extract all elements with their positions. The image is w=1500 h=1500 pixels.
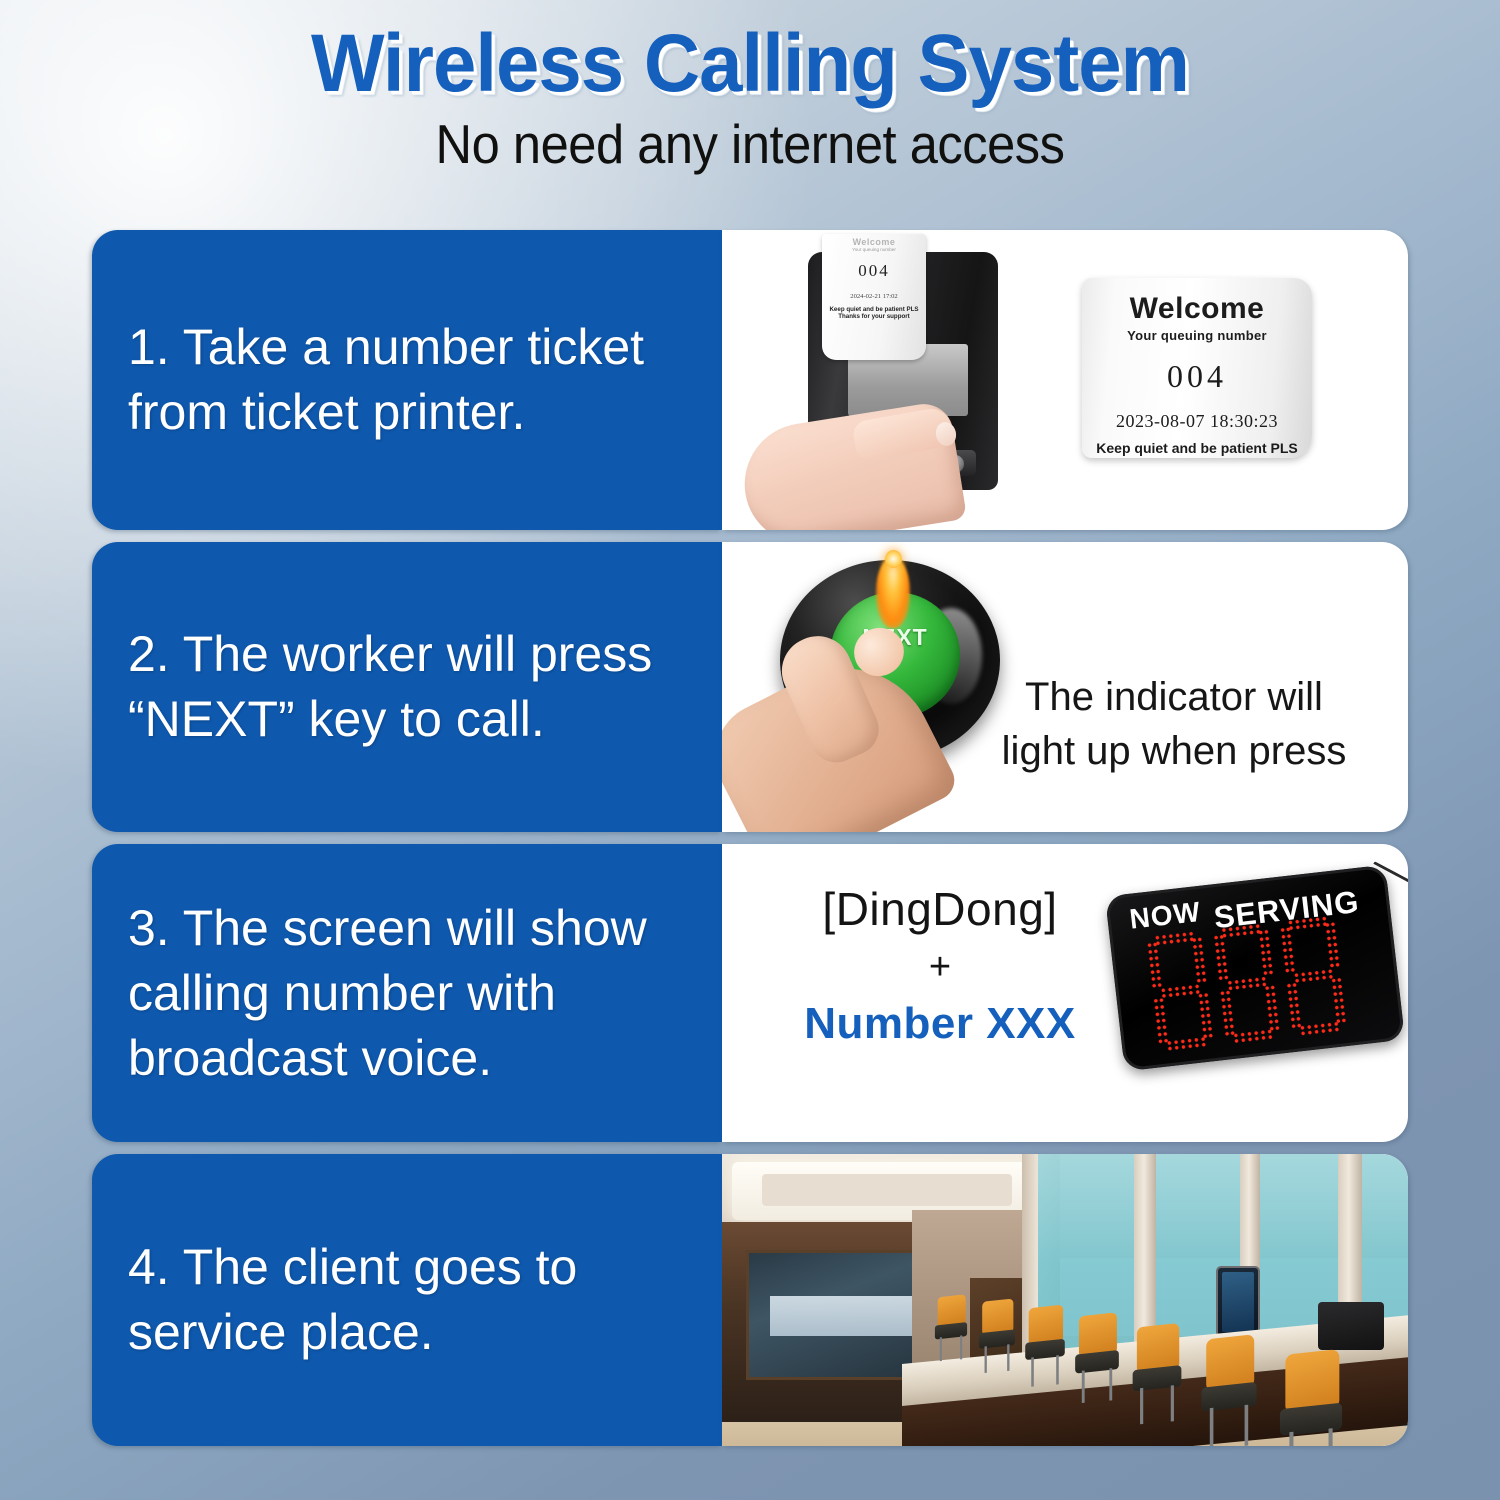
step-3-text: 3. The screen will show calling number w… bbox=[128, 896, 706, 1091]
printer-ticket-queue-label: Your queuing number bbox=[822, 247, 926, 252]
lobby-chair bbox=[979, 1300, 1015, 1372]
step-1-text-panel: 1. Take a number ticket from ticket prin… bbox=[92, 230, 722, 530]
printer-paper-ticket: Welcome Your queuing number 004 2024-02-… bbox=[822, 234, 926, 360]
step-4-text: 4. The client goes to service place. bbox=[128, 1235, 706, 1365]
lobby-chair bbox=[1201, 1337, 1256, 1446]
step-2-media-panel: NEXT The indicator will light up when pr… bbox=[722, 542, 1408, 832]
ticket-note1: Keep quiet and be patient PLS bbox=[1082, 440, 1312, 456]
ticket-welcome: Welcome bbox=[1082, 292, 1312, 326]
lobby-chair bbox=[1075, 1314, 1119, 1401]
steps-list: 1. Take a number ticket from ticket prin… bbox=[92, 230, 1408, 1446]
step-row-1: 1. Take a number ticket from ticket prin… bbox=[92, 230, 1408, 530]
lobby-info-kiosk bbox=[1216, 1266, 1260, 1338]
step-3-media-panel: [DingDong] + Number XXX NOW SERVING bbox=[722, 844, 1408, 1142]
ticket-note2: Thanks for your support bbox=[1082, 456, 1312, 458]
lobby-chair bbox=[1280, 1352, 1342, 1446]
printer-ticket-note2: Thanks for your support bbox=[822, 313, 926, 320]
indicator-caption: The indicator will light up when press bbox=[964, 670, 1384, 778]
broadcast-number-label: Number XXX bbox=[770, 999, 1110, 1049]
indicator-caption-line1: The indicator will bbox=[964, 670, 1384, 724]
step-1-text: 1. Take a number ticket from ticket prin… bbox=[128, 315, 706, 445]
ticket-printer-illustration: Welcome Your queuing number 004 2024-02-… bbox=[750, 238, 1050, 528]
led-digit-2 bbox=[1212, 922, 1281, 1046]
ticket-datetime: 2023-08-07 18:30:23 bbox=[1082, 411, 1312, 432]
lobby-chair bbox=[1133, 1325, 1182, 1423]
step-row-3: 3. The screen will show calling number w… bbox=[92, 844, 1408, 1142]
step-3-text-panel: 3. The screen will show calling number w… bbox=[92, 844, 722, 1142]
printer-ticket-datetime: 2024-02-21 17:02 bbox=[822, 293, 926, 300]
step-2-text: 2. The worker will press “NEXT” key to c… bbox=[128, 622, 706, 752]
led-display-illustration: NOW SERVING bbox=[1110, 856, 1408, 1106]
step-4-text-panel: 4. The client goes to service place. bbox=[92, 1154, 722, 1446]
lobby-glass-reflection bbox=[770, 1296, 930, 1336]
step-row-4: 4. The client goes to service place. bbox=[92, 1154, 1408, 1446]
broadcast-plus-sign: + bbox=[770, 946, 1110, 989]
step-1-media-panel: Welcome Your queuing number 004 2024-02-… bbox=[722, 230, 1408, 530]
ceiling-light-inner bbox=[762, 1174, 1012, 1206]
page-subtitle: No need any internet access bbox=[60, 112, 1440, 176]
printer-ticket-number: 004 bbox=[822, 261, 926, 281]
led-digit-3 bbox=[1279, 915, 1348, 1039]
lobby-chair bbox=[1025, 1306, 1065, 1385]
indicator-caption-line2: light up when press bbox=[964, 724, 1384, 778]
lobby-photo bbox=[722, 1154, 1408, 1446]
page-title: Wireless Calling System bbox=[38, 22, 1463, 106]
led-digit-1 bbox=[1146, 930, 1215, 1054]
printed-ticket: Welcome Your queuing number 004 2023-08-… bbox=[1082, 278, 1312, 458]
kiosk-screen bbox=[1222, 1272, 1254, 1332]
lobby-chair bbox=[935, 1296, 967, 1360]
broadcast-sound-label: [DingDong] bbox=[770, 882, 1110, 936]
broadcast-caption: [DingDong] + Number XXX bbox=[770, 882, 1110, 1049]
lobby-monitor bbox=[1318, 1302, 1384, 1350]
step-row-2: 2. The worker will press “NEXT” key to c… bbox=[92, 542, 1408, 832]
printer-ticket-note1: Keep quiet and be patient PLS bbox=[822, 306, 926, 313]
page-header: Wireless Calling System No need any inte… bbox=[0, 0, 1500, 176]
step-4-media-panel bbox=[722, 1154, 1408, 1446]
ticket-number: 004 bbox=[1082, 358, 1312, 395]
led-now-label: NOW bbox=[1128, 896, 1203, 936]
ticket-queue-label: Your queuing number bbox=[1082, 328, 1312, 343]
indicator-led-icon bbox=[885, 550, 902, 568]
printer-ticket-welcome: Welcome bbox=[822, 237, 926, 247]
led-digits bbox=[1146, 915, 1348, 1054]
step-2-text-panel: 2. The worker will press “NEXT” key to c… bbox=[92, 542, 722, 832]
